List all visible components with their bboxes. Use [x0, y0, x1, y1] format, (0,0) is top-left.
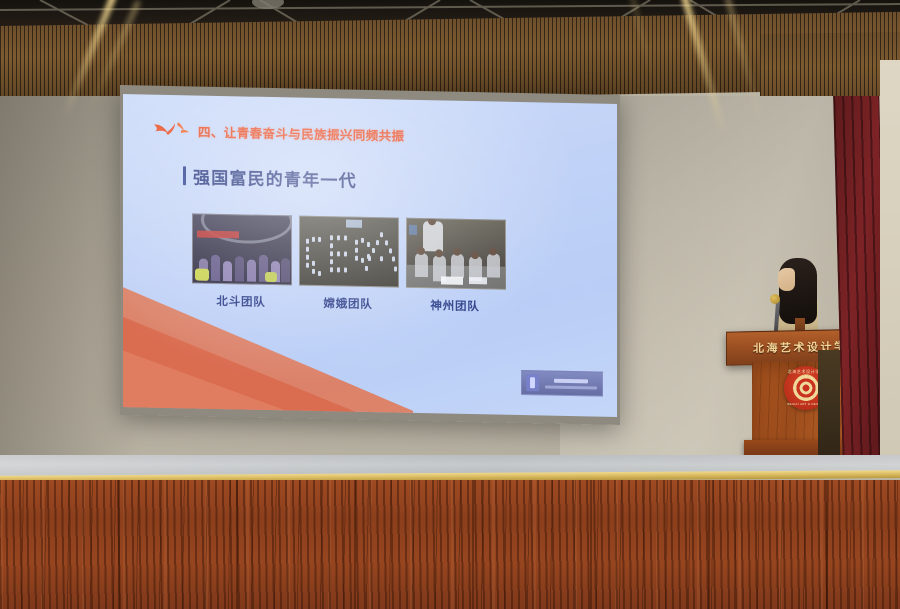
stage-side-gap — [818, 350, 840, 468]
photo-beidou-team — [192, 213, 292, 285]
photo-cell: 神州团队 — [406, 218, 504, 315]
lecture-hall-photo: 四、让青春奋斗与民族振兴同频共振 强国富民的青年一代 — [0, 0, 900, 609]
flying-birds-icon — [153, 121, 189, 141]
overlay-line-secondary — [545, 385, 597, 389]
slide-section-title: 四、让青春奋斗与民族振兴同频共振 — [198, 122, 404, 145]
presentation-slide: 四、让青春奋斗与民族振兴同频共振 强国富民的青年一代 — [123, 94, 617, 417]
stage-panel-seams — [0, 480, 900, 609]
photo-cell: 嫦娥团队 — [299, 216, 397, 313]
wall-shadow-left — [0, 96, 140, 468]
slide-title-row: 四、让青春奋斗与民族振兴同频共振 — [153, 121, 404, 145]
handheld-mic-icon — [770, 294, 780, 304]
photo-caption: 神州团队 — [406, 297, 504, 315]
overlay-line-primary — [554, 378, 588, 383]
stage-front-panel — [0, 480, 900, 609]
slide-heading: 强国富民的青年一代 — [193, 163, 357, 191]
right-wall-edge — [880, 60, 900, 470]
photo-caption: 北斗团队 — [192, 292, 290, 310]
overlay-text-lines — [543, 378, 598, 389]
photo-caption: 嫦娥团队 — [299, 295, 397, 313]
projection-screen: 四、让青春奋斗与民族振兴同频共振 强国富民的青年一代 — [120, 85, 620, 425]
slide-heading-row: 强国富民的青年一代 — [183, 163, 357, 191]
usb-media-icon — [526, 374, 539, 391]
slide-media-overlay — [521, 370, 603, 397]
slide-photo-strip: 北斗团队 — [192, 213, 504, 314]
speaker-face — [778, 268, 795, 291]
photo-cell: 北斗团队 — [192, 213, 290, 310]
emblem-spiral — [793, 375, 819, 401]
photo-shenzhou-team — [406, 218, 506, 290]
photo-change-team — [299, 216, 399, 288]
heading-accent-bar — [183, 166, 186, 185]
